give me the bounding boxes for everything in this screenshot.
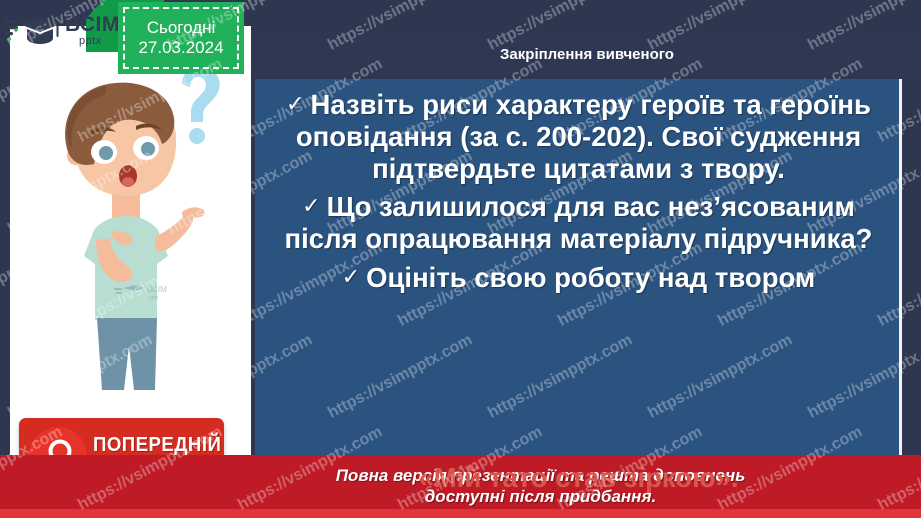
thinking-boy-illustration: ВСІМ pptx bbox=[16, 60, 240, 400]
check-icon: ✓ bbox=[286, 91, 310, 116]
bullet-text-3: Оцініть свою роботу над твором bbox=[366, 262, 815, 293]
bullet-text-1: Назвіть риси характеру героїв та героїнь… bbox=[296, 89, 871, 184]
check-icon: ✓ bbox=[342, 264, 366, 289]
date-badge-label: Сьогодні bbox=[147, 18, 216, 38]
right-frame-strip bbox=[902, 79, 921, 518]
bullet-item-1: ✓Назвіть риси характеру героїв та героїн… bbox=[265, 89, 892, 184]
check-icon: ✓ bbox=[302, 193, 326, 218]
overlay-bottom-stripe bbox=[0, 509, 921, 518]
date-badge: Сьогодні 27.03.2024 bbox=[118, 2, 244, 74]
top-frame-strip bbox=[251, 0, 921, 26]
svg-text:ВСІМ: ВСІМ bbox=[147, 285, 167, 294]
purchase-notice-overlay: Повна версія презентації та решта доповн… bbox=[0, 455, 921, 518]
logo-suffix: pptx bbox=[79, 36, 120, 46]
right-divider-line bbox=[899, 79, 902, 518]
date-badge-value: 27.03.2024 bbox=[138, 38, 223, 58]
overlay-line-1: Повна версія презентації та решта доповн… bbox=[336, 466, 746, 487]
logo-name: ВСІМ bbox=[65, 15, 120, 35]
svg-text:pptx: pptx bbox=[149, 295, 159, 301]
slide-title: Закріплення вивченого bbox=[500, 46, 674, 63]
question-mark-icon bbox=[182, 67, 220, 144]
graduation-cap-icon bbox=[4, 11, 62, 51]
slide-canvas: Закріплення вивченого ✓Назвіть риси хара… bbox=[0, 0, 921, 518]
preview-badge-line1: ПОПЕРЕДНІЙ bbox=[93, 435, 221, 455]
bullet-text-2: Що залишилося для вас нез’ясованим після… bbox=[285, 191, 873, 254]
bullet-item-3: ✓Оцініть свою роботу над твором bbox=[265, 262, 892, 294]
slide-content: ✓Назвіть риси характеру героїв та героїн… bbox=[255, 79, 902, 518]
bullet-item-2: ✓Що залишилося для вас нез’ясованим післ… bbox=[265, 191, 892, 255]
slide-header-bar: Закріплення вивченого bbox=[255, 33, 919, 75]
brand-logo: ВСІМ pptx bbox=[4, 6, 134, 56]
overlay-line-2: доступні після придбання. bbox=[336, 487, 746, 508]
